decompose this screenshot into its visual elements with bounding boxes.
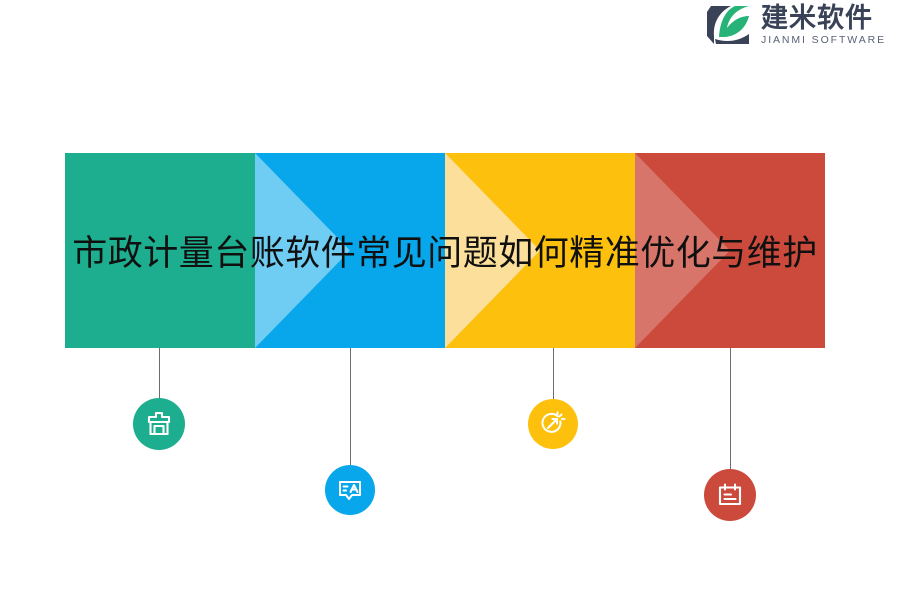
performance-gauge-icon bbox=[538, 409, 568, 439]
node-performance[interactable] bbox=[528, 399, 578, 449]
connector-line-translate bbox=[350, 348, 351, 465]
connector-line-performance bbox=[553, 348, 554, 399]
node-translate[interactable] bbox=[325, 465, 375, 515]
connector-line-calendar bbox=[730, 348, 731, 469]
calendar-note-icon bbox=[715, 480, 745, 510]
node-group bbox=[0, 0, 900, 600]
node-calendar[interactable] bbox=[704, 469, 756, 521]
node-store[interactable] bbox=[133, 398, 185, 450]
connector-line-store bbox=[159, 348, 160, 398]
store-icon bbox=[144, 409, 174, 439]
translate-icon bbox=[335, 475, 365, 505]
